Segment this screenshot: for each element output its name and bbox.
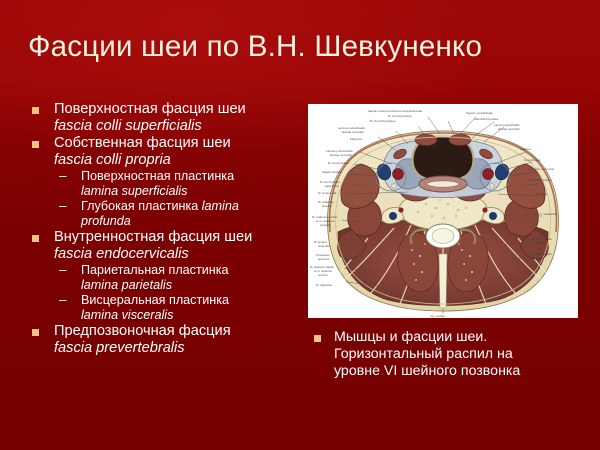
bullet-dash-icon: –	[59, 198, 67, 214]
list-item-label-ru: Поверхностная фасция шеи	[54, 101, 314, 118]
slide-canvas: Фасции шеи по В.Н. Шевкуненко Поверхност…	[0, 0, 600, 450]
bullet-dash-icon: –	[59, 168, 67, 184]
svg-text:A. carotis communis: A. carotis communis	[528, 167, 555, 171]
sub-list-item-label-ru: Париетальная пластинка	[81, 263, 314, 278]
page-title: Фасции шеи по В.Н. Шевкуненко	[28, 30, 584, 64]
svg-text:mastoideus: mastoideus	[324, 184, 339, 188]
svg-text:Septum interpromontorium supra: Septum interpromontorium supraesternale	[368, 109, 423, 113]
sub-list-item-label-ru: Глубокая пластинка lamina	[81, 199, 314, 214]
svg-text:capitis: capitis	[536, 256, 545, 260]
svg-text:M. sternothyroideus: M. sternothyroideus	[370, 119, 396, 123]
list-item-label-latin: fascia prevertebralis	[54, 340, 314, 356]
svg-text:spinosus: spinosus	[318, 257, 330, 261]
sub-list-item: – Поверхностная пластинка lamina superfi…	[26, 169, 314, 198]
list-item-label-ru: Предпозвоночная фасция	[54, 323, 314, 340]
figure-caption: Мышцы и фасции шеи. Горизонтальный распи…	[306, 329, 596, 380]
svg-text:anterior: anterior	[322, 204, 332, 208]
svg-text:Platysma: Platysma	[350, 137, 362, 141]
svg-text:V. jugularis interna: V. jugularis interna	[528, 178, 552, 182]
sub-list-item-label-latin: profunda	[81, 214, 314, 228]
sub-list-item-label-latin: lamina parietalis	[81, 278, 314, 292]
caption-line-1: Мышцы и фасции шеи.	[334, 329, 596, 346]
svg-text:posterior: posterior	[320, 223, 331, 227]
sub-list-item: – Париетальная пластинка lamina parietal…	[26, 263, 314, 292]
bullet-dash-icon: –	[59, 292, 67, 308]
neck-cross-section-illustration: Septum interpromontorium supraesternale …	[308, 104, 578, 318]
sub-list-item: – Глубокая пластинка lamina profunda	[26, 199, 314, 228]
svg-text:fasciae cervicalis: fasciae cervicalis	[330, 153, 352, 157]
sub-list-item-label-latin: lamina visceralis	[81, 308, 314, 322]
svg-text:Vagina carotica: Vagina carotica	[322, 170, 342, 174]
fascia-list: Поверхностная фасция шеи fascia colli su…	[26, 101, 314, 357]
bullet-square-icon	[32, 141, 39, 148]
bullet-square-icon	[32, 329, 39, 336]
svg-text:cervicis: cervicis	[536, 241, 546, 245]
svg-text:Septum pretracheale: Septum pretracheale	[466, 111, 493, 115]
list-item-label-latin: fascia endocervicalis	[54, 246, 314, 262]
list-item: Собственная фасция шеи fascia colli prop…	[26, 135, 314, 168]
svg-text:fasciae cervicalis: fasciae cervicalis	[342, 130, 364, 134]
svg-text:fasciae cervicalis: fasciae cervicalis	[498, 127, 520, 131]
list-item-label-ru: Внутренностная фасция шеи	[54, 229, 314, 246]
list-item: Внутренностная фасция шеи fascia endocer…	[26, 229, 314, 262]
bullet-square-icon	[32, 235, 39, 242]
list-item: Предпозвоночная фасция fascia prevertebr…	[26, 323, 314, 356]
svg-text:Glandula thyroidea: Glandula thyroidea	[474, 117, 499, 121]
list-item-label-ru: Собственная фасция шеи	[54, 135, 314, 152]
svg-text:Lig. nuchae: Lig. nuchae	[430, 314, 445, 318]
svg-text:M. omohyoideus: M. omohyoideus	[328, 161, 350, 165]
list-item-label-latin: fascia colli propria	[54, 152, 314, 168]
list-item: Поверхностная фасция шеи fascia colli su…	[26, 101, 314, 134]
svg-text:Oesophagus: Oesophagus	[524, 158, 541, 162]
sub-list-item: – Висцеральная пластинка lamina visceral…	[26, 293, 314, 322]
list-item-label-latin: fascia colli superficialis	[54, 118, 314, 134]
svg-text:cervicis: cervicis	[318, 273, 328, 277]
svg-text:N. vagus: N. vagus	[536, 192, 548, 196]
svg-text:scapulae: scapulae	[318, 244, 330, 248]
svg-text:A. et v. vertebralis: A. et v. vertebralis	[534, 212, 557, 216]
caption-line-3: уровне VI шейного позвонка	[334, 363, 596, 380]
neck-cross-section-figure: Septum interpromontorium supraesternale …	[308, 104, 578, 318]
svg-text:M. trapezius: M. trapezius	[316, 283, 332, 287]
svg-text:M. longus colli: M. longus colli	[318, 191, 337, 195]
sub-list-item-label-ru: Висцеральная пластинка	[81, 293, 314, 308]
bullet-dash-icon: –	[59, 262, 67, 278]
sub-list-item-label-ru: Поверхностная пластинка	[81, 169, 314, 184]
caption-line-2: Горизонтальный распил на	[334, 346, 596, 363]
bullet-square-icon	[32, 107, 39, 114]
sub-list-item-label-latin: lamina superficialis	[81, 184, 314, 198]
bullet-square-icon	[314, 335, 321, 342]
svg-text:Trachea: Trachea	[520, 147, 531, 151]
svg-text:M. sternohyoideus: M. sternohyoideus	[388, 114, 412, 118]
